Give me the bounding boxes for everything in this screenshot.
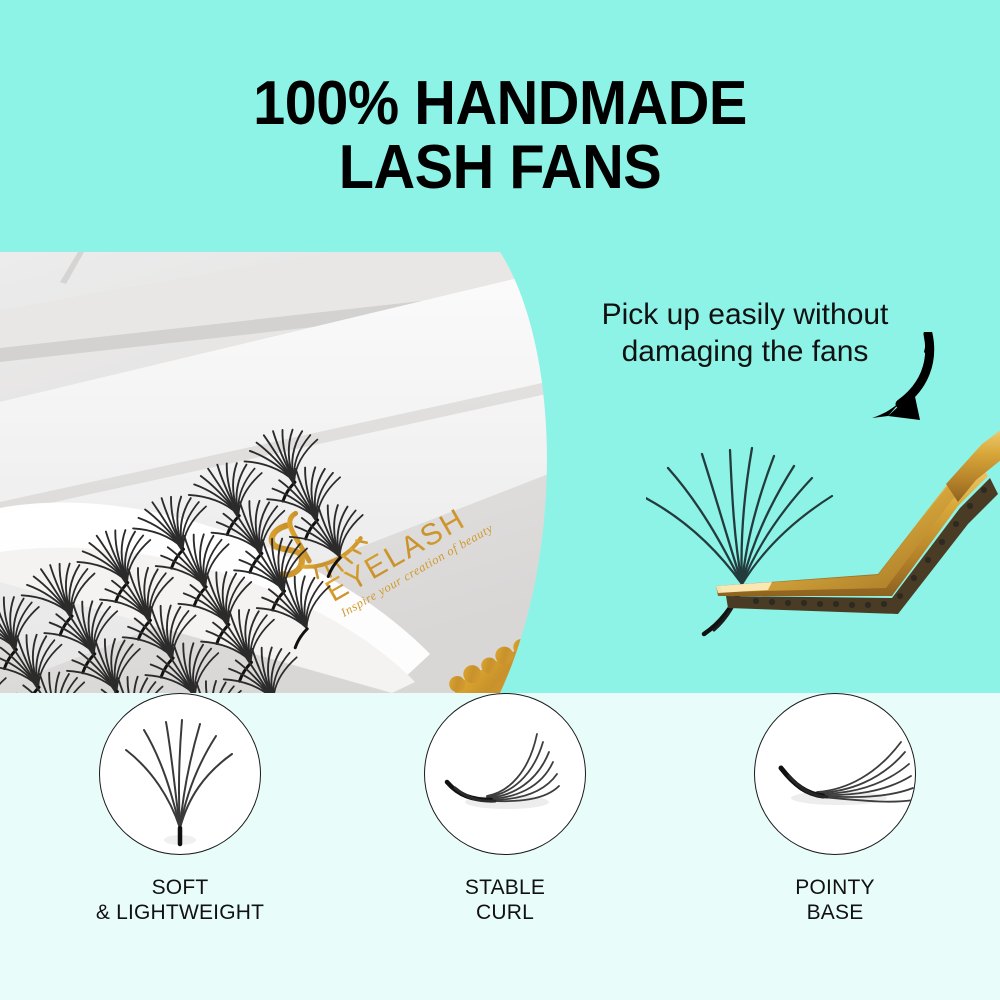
feature-pointy-base: POINTY BASE [705, 693, 965, 925]
product-photo: EYELASH Inspire your creation of beauty [0, 252, 592, 693]
hero-section: 100% HANDMADE LASH FANS Pick up easily w… [0, 0, 1000, 693]
feature-label: SOFT & LIGHTWEIGHT [50, 875, 310, 925]
page-title: 100% HANDMADE LASH FANS [35, 72, 965, 200]
features-section: SOFT & LIGHTWEIGHT [0, 693, 1000, 1000]
promo-image: 100% HANDMADE LASH FANS Pick up easily w… [0, 0, 1000, 1000]
feature-label: STABLE CURL [375, 875, 635, 925]
feature-stable-curl: STABLE CURL [375, 693, 635, 925]
feature-soft-lightweight: SOFT & LIGHTWEIGHT [50, 693, 310, 925]
lash-fan-open-icon [99, 693, 261, 855]
lash-fan-pointy-base-icon [754, 693, 916, 855]
lash-fan-curl-icon [424, 693, 586, 855]
gold-lash-tweezers [646, 398, 1000, 698]
feature-label: POINTY BASE [705, 875, 965, 925]
